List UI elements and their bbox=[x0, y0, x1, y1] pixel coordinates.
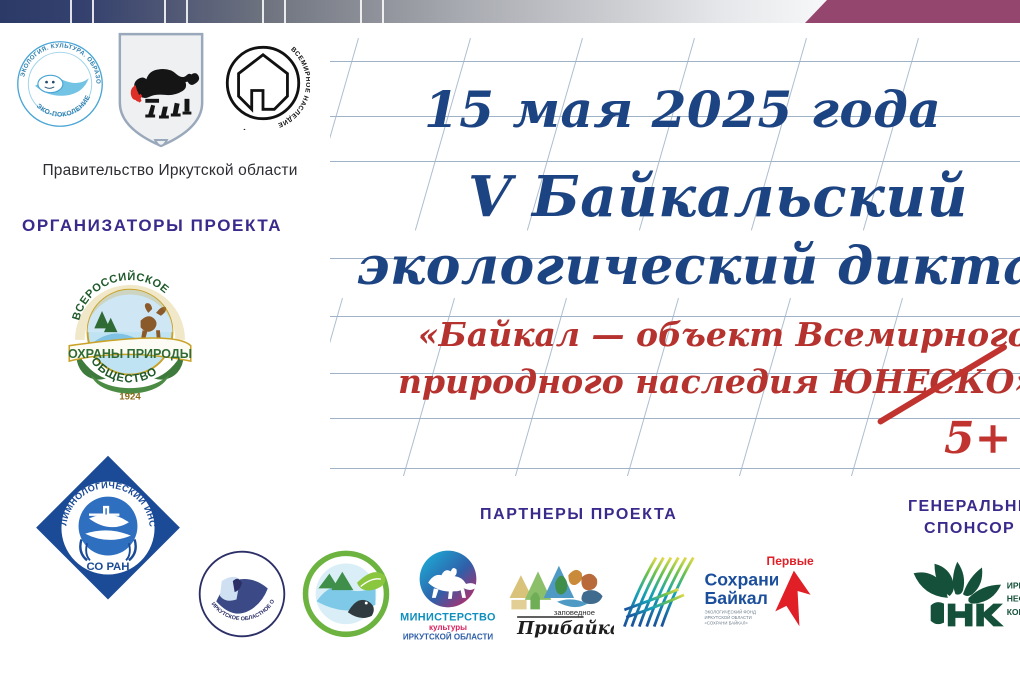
svg-text:МИНИСТЕРСТВО: МИНИСТЕРСТВО bbox=[400, 612, 496, 624]
svg-text:ОХРАНЫ ПРИРОДЫ: ОХРАНЫ ПРИРОДЫ bbox=[68, 347, 192, 361]
poster-canvas: 15 мая 2025 года V Байкальский экологиче… bbox=[0, 0, 1020, 680]
paper-rule-line bbox=[330, 468, 1020, 469]
banner-divider bbox=[92, 0, 94, 23]
svg-text:Байкал: Байкал bbox=[705, 588, 768, 608]
paper-rule-line bbox=[330, 61, 1020, 62]
limnological-institute-logo: ЛИМНОЛОГИЧЕСКИЙ ИНСТИТУТ СО РАН bbox=[32, 452, 184, 604]
svg-text:ЭКО-ПОКОЛЕНИЕ: ЭКО-ПОКОЛЕНИЕ bbox=[35, 94, 92, 119]
banner-divider bbox=[284, 0, 286, 23]
svg-text:1924: 1924 bbox=[119, 392, 141, 403]
banner-divider bbox=[164, 0, 166, 23]
banner-base bbox=[0, 23, 1020, 26]
svg-text:заповедное: заповедное bbox=[554, 608, 595, 617]
eco-nerpa-green-logo bbox=[300, 546, 392, 638]
sponsor-title-line-1: ГЕНЕРАЛЬНЫЙ bbox=[908, 496, 1020, 518]
organizers-section-title: ОРГАНИЗАТОРЫ ПРОЕКТА bbox=[22, 216, 282, 236]
paper-rule-line bbox=[330, 418, 1020, 419]
event-title-line-2: экологический диктант bbox=[356, 236, 1020, 297]
svg-text:НЕФТЯНАЯ: НЕФТЯНАЯ bbox=[1007, 594, 1020, 604]
banner-divider bbox=[70, 0, 72, 23]
unesco-world-heritage-icon: ВСЕМИРНОЕ НАСЛЕДИЕ WORLD HERITAGE • PATR… bbox=[216, 36, 310, 130]
sponsor-title-line-2: СПОНСОР bbox=[908, 518, 1020, 540]
sokhrani-baikal-logo: Сохрани Байкал ЭКОЛОГИЧЕСКИЙ ФОНД ИРКУТС… bbox=[618, 552, 778, 634]
svg-text:ИРКУТСКАЯ: ИРКУТСКАЯ bbox=[1007, 580, 1020, 590]
partners-section-title: ПАРТНЕРЫ ПРОЕКТА bbox=[480, 506, 677, 524]
event-subtitle-line-1: «Байкал — объект Всемирного bbox=[418, 315, 1020, 354]
banner-divider bbox=[360, 0, 362, 23]
banner-divider bbox=[262, 0, 264, 23]
svg-text:ЭКОЛОГИЧЕСКИЙ ФОНД: ЭКОЛОГИЧЕСКИЙ ФОНД bbox=[705, 610, 756, 615]
paper-slant-line bbox=[330, 298, 343, 476]
banner-gradient bbox=[0, 0, 830, 23]
ink-logo: ИРКУТСКАЯ НЕФТЯНАЯ КОМПАНИЯ bbox=[906, 556, 1020, 636]
svg-text:Прибайкалье: Прибайкалье bbox=[516, 618, 614, 639]
irkutsk-regional-seal-logo: ИРКУТСКОЕ ОБЛАСТНОЕ ОТДЕЛЕНИЕ bbox=[196, 548, 288, 640]
pervye-logo: Первые bbox=[762, 552, 822, 630]
government-label: Правительство Иркутской области bbox=[10, 162, 330, 180]
age-rating-badge: 5+ bbox=[944, 413, 1011, 464]
eco-generation-logo: ЭКОЛОГИЯ. КУЛЬТУРА. ОБРАЗОВАНИЕ ЭКО-ПОКО… bbox=[12, 36, 108, 132]
svg-text:Первые: Первые bbox=[767, 554, 814, 568]
event-date: 15 мая 2025 года bbox=[424, 80, 941, 139]
zapovednoe-pribaikalye-logo: заповедное Прибайкалье bbox=[500, 556, 614, 640]
banner-divider bbox=[382, 0, 384, 23]
sponsor-section-title: ГЕНЕРАЛЬНЫЙ СПОНСОР bbox=[908, 496, 1020, 540]
event-title-line-1: V Байкальский bbox=[468, 164, 968, 230]
svg-text:КОМПАНИЯ: КОМПАНИЯ bbox=[1007, 607, 1020, 617]
banner-divider bbox=[186, 0, 188, 23]
irkutsk-coat-of-arms-icon bbox=[112, 30, 210, 152]
svg-text:ИРКУТСКОЙ ОБЛАСТИ: ИРКУТСКОЙ ОБЛАСТИ bbox=[705, 615, 752, 620]
paper-slant-line bbox=[330, 38, 359, 231]
svg-text:ИРКУТСКОЙ ОБЛАСТИ: ИРКУТСКОЙ ОБЛАСТИ bbox=[403, 632, 493, 641]
voop-emblem-logo: ВСЕРОССИЙСКОЕ ОХРАНЫ ПРИРОДЫ ОБЩЕСТВО 19… bbox=[48, 268, 212, 406]
ministry-of-culture-logo: МИНИСТЕРСТВО культуры ИРКУТСКОЙ ОБЛАСТИ bbox=[396, 548, 500, 644]
svg-text:ВСЕМИРНОЕ НАСЛЕДИЕ: ВСЕМИРНОЕ НАСЛЕДИЕ bbox=[276, 46, 310, 129]
banner-accent-shape bbox=[805, 0, 1020, 23]
decorative-top-banner bbox=[0, 0, 1020, 23]
svg-text:«СОХРАНИ БАЙКАЛ»: «СОХРАНИ БАЙКАЛ» bbox=[705, 621, 749, 626]
svg-text:культуры: культуры bbox=[429, 623, 467, 632]
svg-text:СО РАН: СО РАН bbox=[86, 561, 129, 573]
